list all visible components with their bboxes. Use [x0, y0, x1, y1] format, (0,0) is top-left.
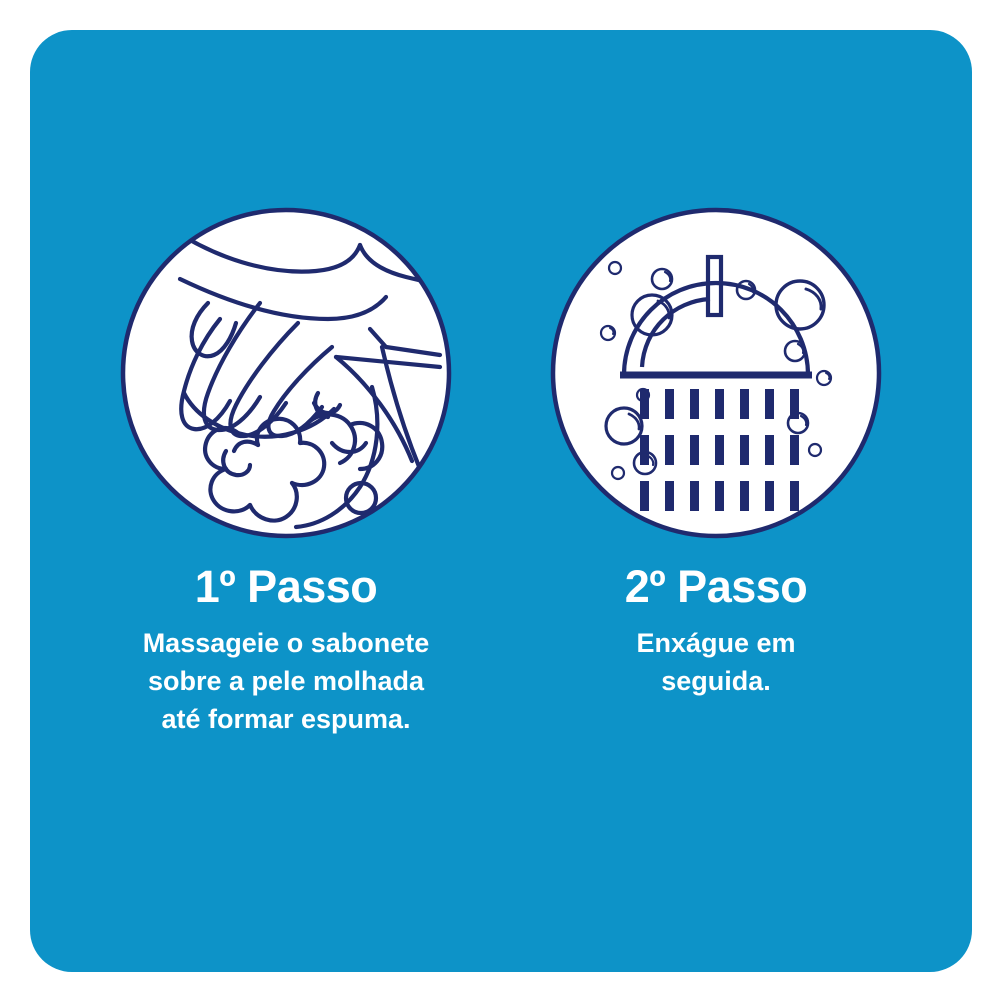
step-1-description-line: Massageie o sabonete [143, 624, 430, 662]
shower-head-with-bubbles-icon [550, 207, 882, 539]
step-2-description-line: seguida. [636, 662, 795, 700]
step-1-title: 1º Passo [195, 563, 378, 610]
step-1-description-line: sobre a pele molhada [143, 662, 430, 700]
step-1-description-line: até formar espuma. [143, 700, 430, 738]
steps-row: 1º Passo Massageie o sabonete sobre a pe… [30, 30, 972, 972]
step-1: 1º Passo Massageie o sabonete sobre a pe… [106, 207, 466, 738]
hand-massaging-foam-icon [120, 207, 452, 539]
step-1-description: Massageie o sabonete sobre a pele molhad… [143, 624, 430, 738]
step-2-title: 2º Passo [625, 563, 808, 610]
step-2-description: Enxágue em seguida. [636, 624, 795, 700]
step-2: 2º Passo Enxágue em seguida. [536, 207, 896, 700]
screenshot-root: 1º Passo Massageie o sabonete sobre a pe… [0, 0, 1000, 1000]
step-2-description-line: Enxágue em [636, 624, 795, 662]
instruction-card: 1º Passo Massageie o sabonete sobre a pe… [30, 30, 972, 972]
